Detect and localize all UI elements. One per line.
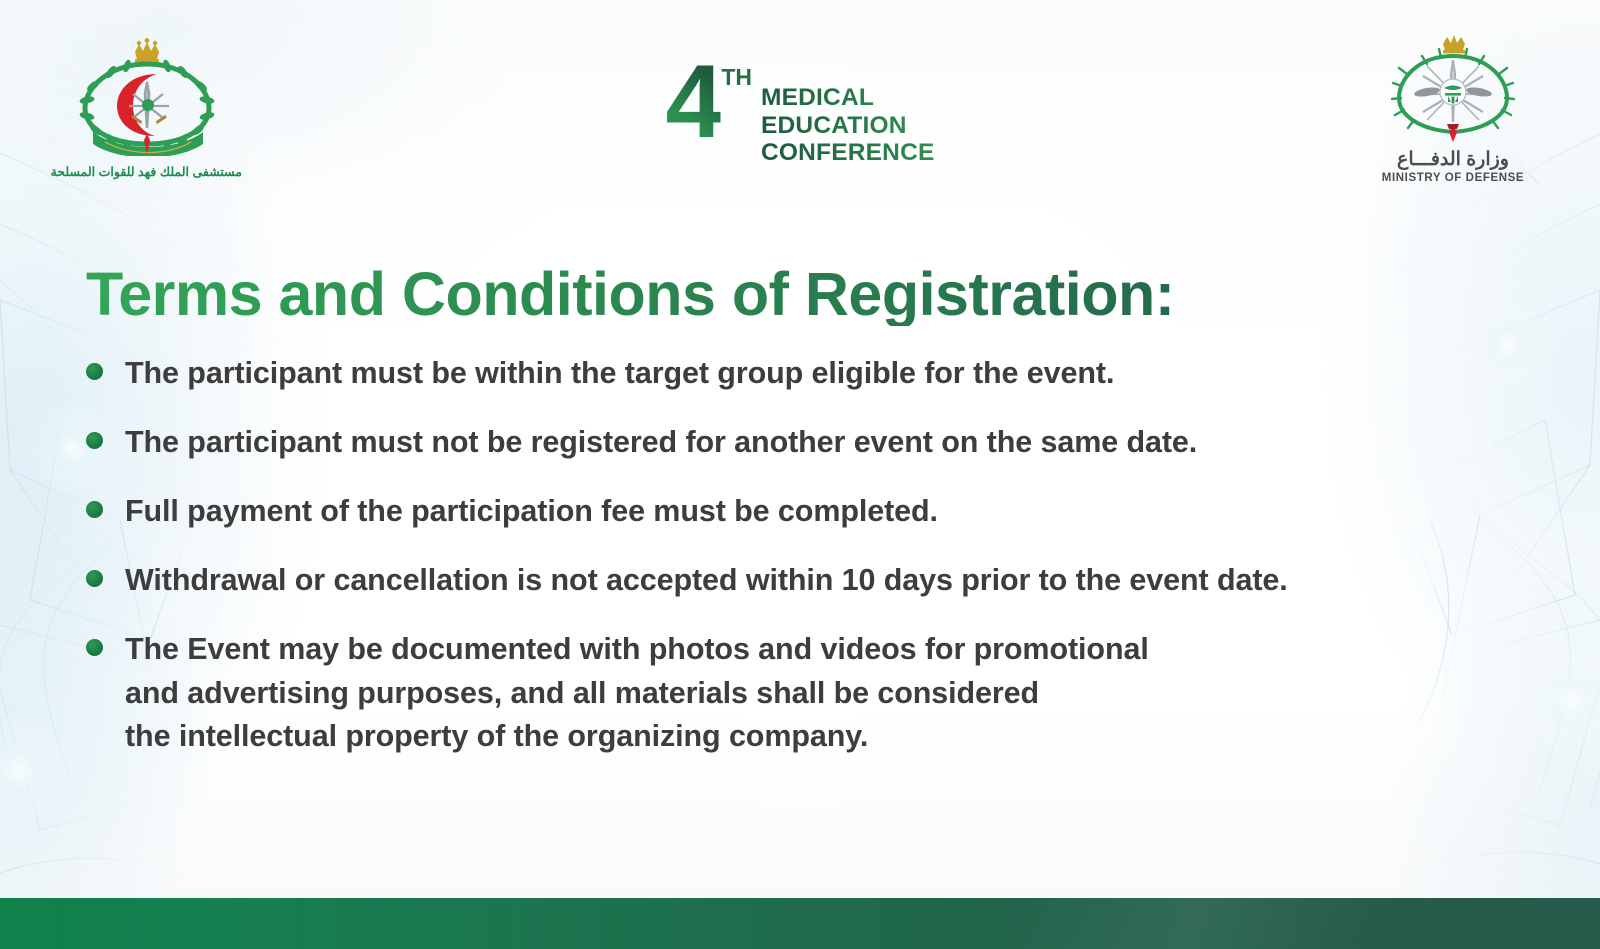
conference-title-line-3: CONFERENCE [761,139,935,167]
list-item-line: Withdrawal or cancellation is not accept… [125,559,1288,603]
conference-logo: 4 TH MEDICAL EDUCATION CONFERENCE [665,58,934,167]
list-item: Withdrawal or cancellation is not accept… [86,559,1540,603]
list-item-text: Withdrawal or cancellation is not accept… [125,559,1288,603]
slide-header: مستشفى الملك فهد للقوات المسلحة 4 TH MED… [0,0,1600,200]
list-item: The Event may be documented with photos … [86,628,1540,760]
list-item-line: The Event may be documented with photos … [125,628,1149,672]
ministry-logo-caption-en: MINISTRY OF DEFENSE [1358,172,1548,184]
conference-edition-ordinal: TH [721,64,752,91]
list-item-line: Full payment of the participation fee mu… [125,490,938,534]
king-fahad-armed-forces-hospital-logo-icon [71,36,223,156]
conference-edition-number-group: 4 TH [665,58,752,147]
bullet-icon [86,432,103,449]
ministry-logo-block: وزارة الدفـــاع MINISTRY OF DEFENSE [1358,30,1548,184]
conference-title-line-1: MEDICAL [761,84,935,112]
page-title: Terms and Conditions of Registration: [86,262,1540,326]
footer-bar [0,898,1600,949]
ministry-logo-caption-ar: وزارة الدفـــاع [1358,148,1548,171]
conference-title-line-2: EDUCATION [761,112,935,140]
terms-and-conditions-list: The participant must be within the targe… [86,352,1540,759]
footer-bar-sheen [0,898,1600,949]
list-item: The participant must be within the targe… [86,352,1540,396]
list-item-line: The participant must not be registered f… [125,421,1197,465]
conference-edition-number: 4 [665,58,720,147]
bullet-icon [86,639,103,656]
list-item-text: The participant must be within the targe… [125,352,1114,396]
list-item-line: the intellectual property of the organiz… [125,715,1149,759]
conference-title-lines: MEDICAL EDUCATION CONFERENCE [761,84,935,167]
hospital-logo-block: مستشفى الملك فهد للقوات المسلحة [52,36,242,179]
hospital-logo-caption-ar: مستشفى الملك فهد للقوات المسلحة [52,164,242,179]
list-item: The participant must not be registered f… [86,421,1540,465]
bullet-icon [86,570,103,587]
ministry-of-defense-logo-icon [1387,30,1519,142]
list-item-text: The participant must not be registered f… [125,421,1197,465]
list-item: Full payment of the participation fee mu… [86,490,1540,534]
bullet-icon [86,363,103,380]
presentation-slide: مستشفى الملك فهد للقوات المسلحة 4 TH MED… [0,0,1600,949]
list-item-text: Full payment of the participation fee mu… [125,490,938,534]
slide-content: Terms and Conditions of Registration: Th… [86,262,1540,784]
list-item-text: The Event may be documented with photos … [125,628,1149,760]
list-item-line: The participant must be within the targe… [125,352,1114,396]
list-item-line: and advertising purposes, and all materi… [125,672,1149,716]
bullet-icon [86,501,103,518]
